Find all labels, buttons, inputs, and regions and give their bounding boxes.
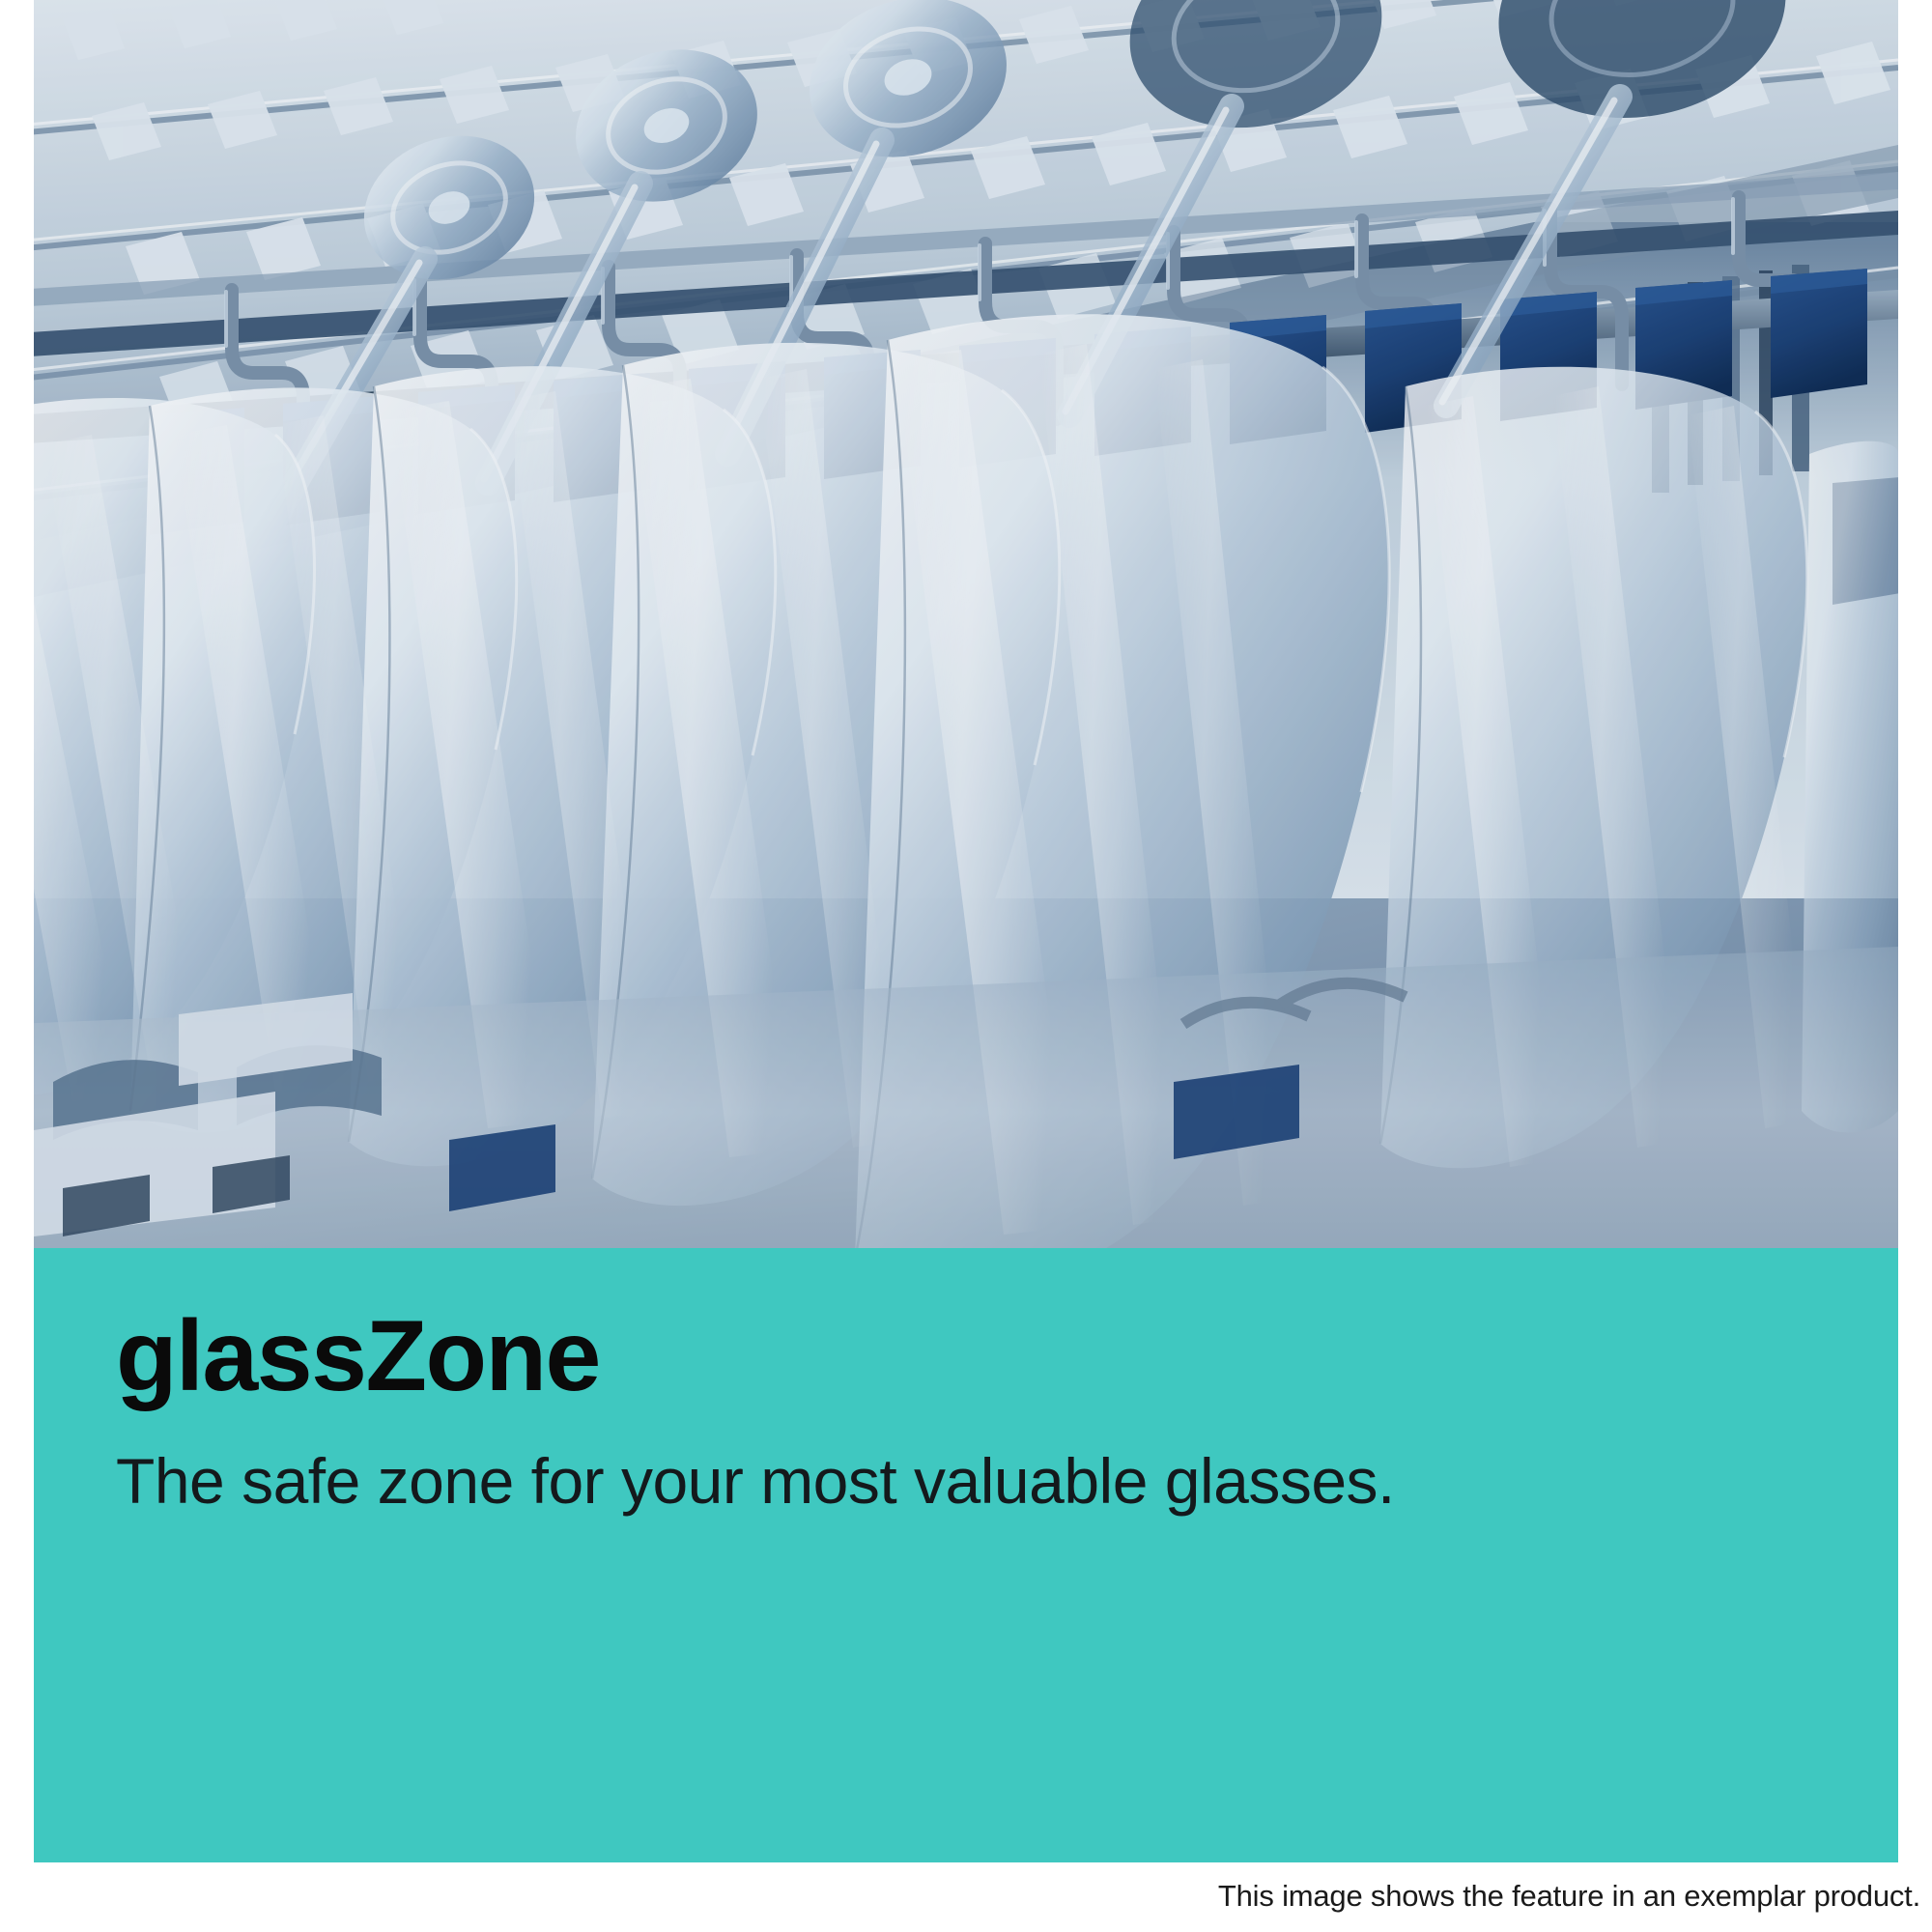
feature-subline: The safe zone for your most valuable gla… — [116, 1449, 1395, 1513]
marketing-feature-card: glassZone The safe zone for your most va… — [0, 0, 1932, 1932]
feature-banner: glassZone The safe zone for your most va… — [34, 1248, 1898, 1862]
disclaimer-caption: This image shows the feature in an exemp… — [1218, 1879, 1920, 1914]
photo-illustration — [34, 0, 1898, 1248]
dishwasher-glass-rack-photo — [34, 0, 1898, 1248]
feature-headline: glassZone — [116, 1306, 600, 1406]
